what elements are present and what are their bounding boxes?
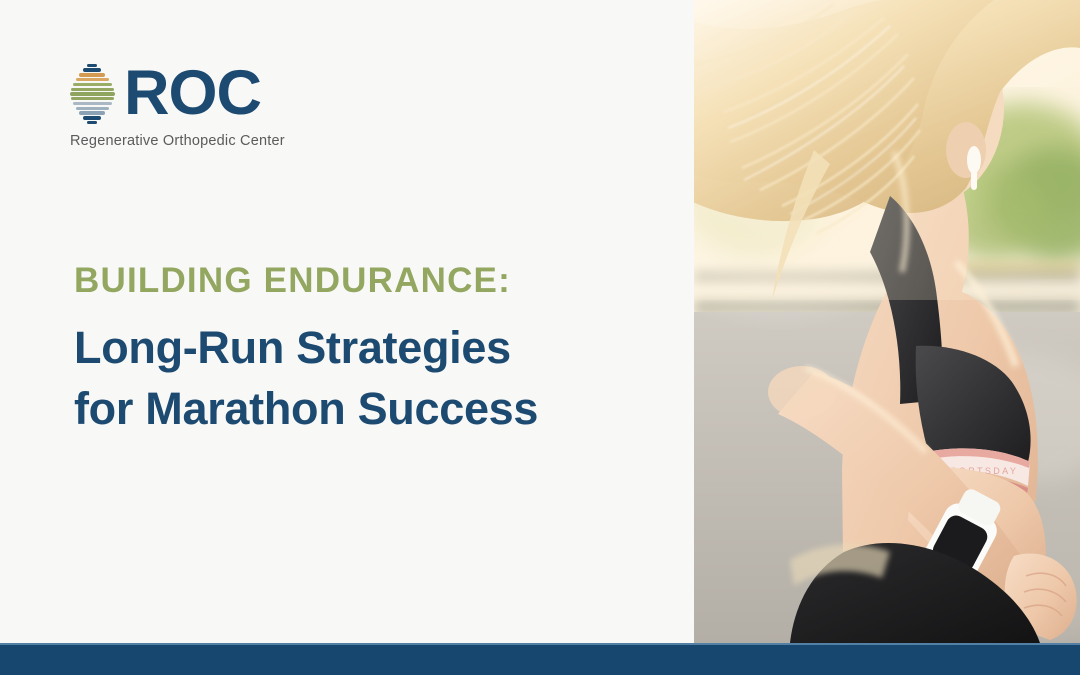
logo-mark-stripe-2 [79,73,105,76]
logo-row: ROC [68,62,261,126]
logo-mark-stripe-5 [71,88,114,91]
logo-mark-stripe-11 [83,116,101,119]
logo-tagline: Regenerative Orthopedic Center [70,133,285,149]
logo-mark-stripe-4 [73,83,112,86]
headline-block: BUILDING ENDURANCE: Long-Run Strategies … [74,262,538,439]
brand-logo[interactable]: ROC Regenerative Orthopedic Center [68,62,285,149]
runner-photo: SPORTSDAY [694,0,1080,643]
logo-mark-stripe-10 [79,111,105,114]
logo-mark-stripe-9 [76,107,109,110]
logo-mark-stripe-12 [87,121,97,124]
bottom-accent-bar [0,643,1080,675]
logo-mark-stripe-8 [73,102,112,105]
left-content-panel: ROC Regenerative Orthopedic Center BUILD… [0,0,694,643]
headline-eyebrow: BUILDING ENDURANCE: [74,262,538,301]
logo-mark-stripe-7 [71,97,114,100]
logo-mark-stripe-0 [87,64,97,67]
logo-mark-stripe-1 [83,68,101,71]
roc-striped-diamond-mark [68,62,116,126]
logo-wordmark: ROC [124,64,261,124]
marketing-banner: ROC Regenerative Orthopedic Center BUILD… [0,0,1080,675]
headline-line-1: Long-Run Strategies [74,317,538,378]
logo-mark-stripe-6 [70,92,115,95]
headline-line-2: for Marathon Success [74,378,538,439]
logo-mark-stripe-3 [76,78,109,81]
